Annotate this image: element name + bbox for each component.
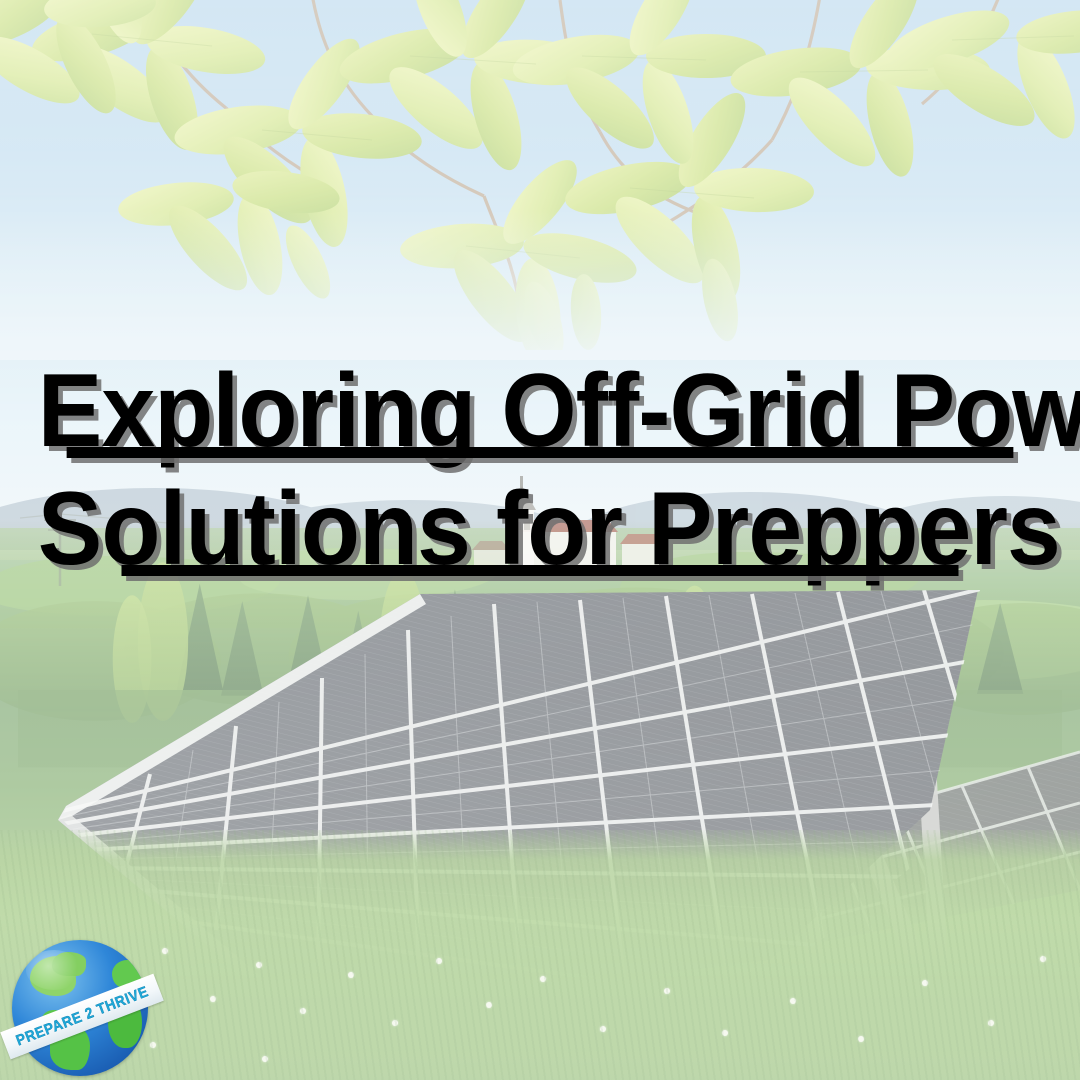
daisy bbox=[922, 980, 928, 986]
daisy bbox=[348, 972, 354, 978]
graphic-canvas: Exploring Off-Grid Power Solutions for P… bbox=[0, 0, 1080, 1080]
daisy bbox=[150, 1042, 156, 1048]
daisy bbox=[1040, 956, 1046, 962]
meadow-foreground bbox=[0, 830, 1080, 1080]
daisy bbox=[790, 998, 796, 1004]
brand-logo[interactable]: PREPARE 2 THRIVE bbox=[12, 940, 148, 1076]
canopy-fade bbox=[0, 210, 1080, 360]
daisy bbox=[256, 962, 262, 968]
daisy bbox=[300, 1008, 306, 1014]
daisy bbox=[600, 1026, 606, 1032]
daisy bbox=[858, 1036, 864, 1042]
title-line-2: Solutions for Preppers bbox=[38, 470, 1042, 588]
daisy bbox=[210, 996, 216, 1002]
page-title: Exploring Off-Grid Power Solutions for P… bbox=[0, 352, 1080, 588]
daisy bbox=[988, 1020, 994, 1026]
daisy bbox=[392, 1020, 398, 1026]
title-underline bbox=[67, 447, 1014, 458]
daisy bbox=[486, 1002, 492, 1008]
title-line-1: Exploring Off-Grid Power bbox=[38, 352, 1042, 470]
globe-highlight bbox=[26, 950, 82, 990]
daisy bbox=[162, 948, 168, 954]
daisy bbox=[436, 958, 442, 964]
title-underline bbox=[121, 565, 958, 576]
daisy bbox=[540, 976, 546, 982]
daisy bbox=[722, 1030, 728, 1036]
daisy bbox=[262, 1056, 268, 1062]
daisy bbox=[664, 988, 670, 994]
